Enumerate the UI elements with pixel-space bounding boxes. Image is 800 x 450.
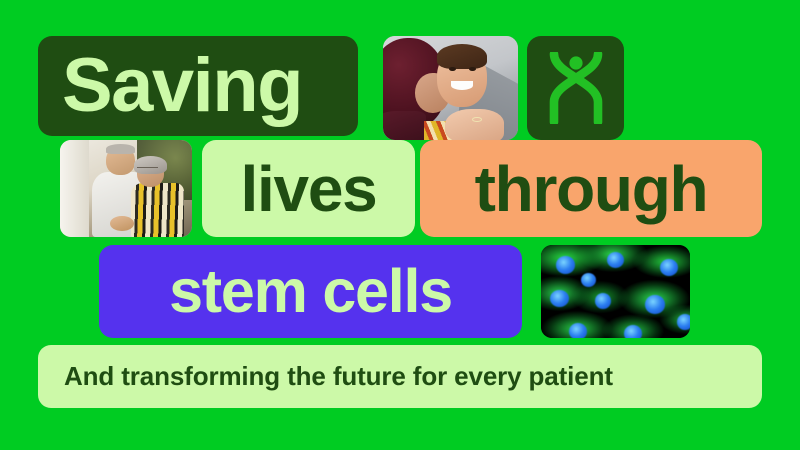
held-hands [110,216,134,232]
cell-nucleus [660,259,678,276]
headline-word-saving: Saving [62,48,302,124]
cell-nucleus [595,293,611,309]
cell-nucleus [624,325,642,338]
headline-word-block-lives: lives [202,140,415,237]
mother-clothing [383,111,426,140]
woman-blouse [131,183,184,237]
photo-mother-child [383,36,518,140]
logo-tile [527,36,624,140]
cell-nucleus [645,295,664,314]
tagline-block: And transforming the future for every pa… [38,345,762,408]
stylised-human-figure-helix-icon [545,52,607,124]
photo-elderly-couple [60,140,192,237]
headline-word-through: through [475,157,708,221]
child-hair [437,44,487,69]
cell-nucleus [569,323,587,338]
headline-word-block-through: through [420,140,762,237]
cell-nucleus [581,273,596,287]
promotional-banner: Saving lives [0,0,800,450]
woman-glasses [137,167,158,172]
headline-word-stem-cells: stem cells [169,261,452,322]
headline-word-lives: lives [241,157,377,221]
headline-word-block-stem-cells: stem cells [99,245,522,338]
wedding-ring [472,117,481,122]
headline-word-block-saving: Saving [38,36,358,136]
cell-nucleus [556,256,575,274]
tagline-text: And transforming the future for every pa… [64,361,613,392]
photo-stem-cells-micrograph [541,245,690,338]
man-hair [106,144,135,154]
cell-nucleus [677,314,690,330]
mother-hand [445,109,504,140]
photo-pillar [60,140,89,237]
